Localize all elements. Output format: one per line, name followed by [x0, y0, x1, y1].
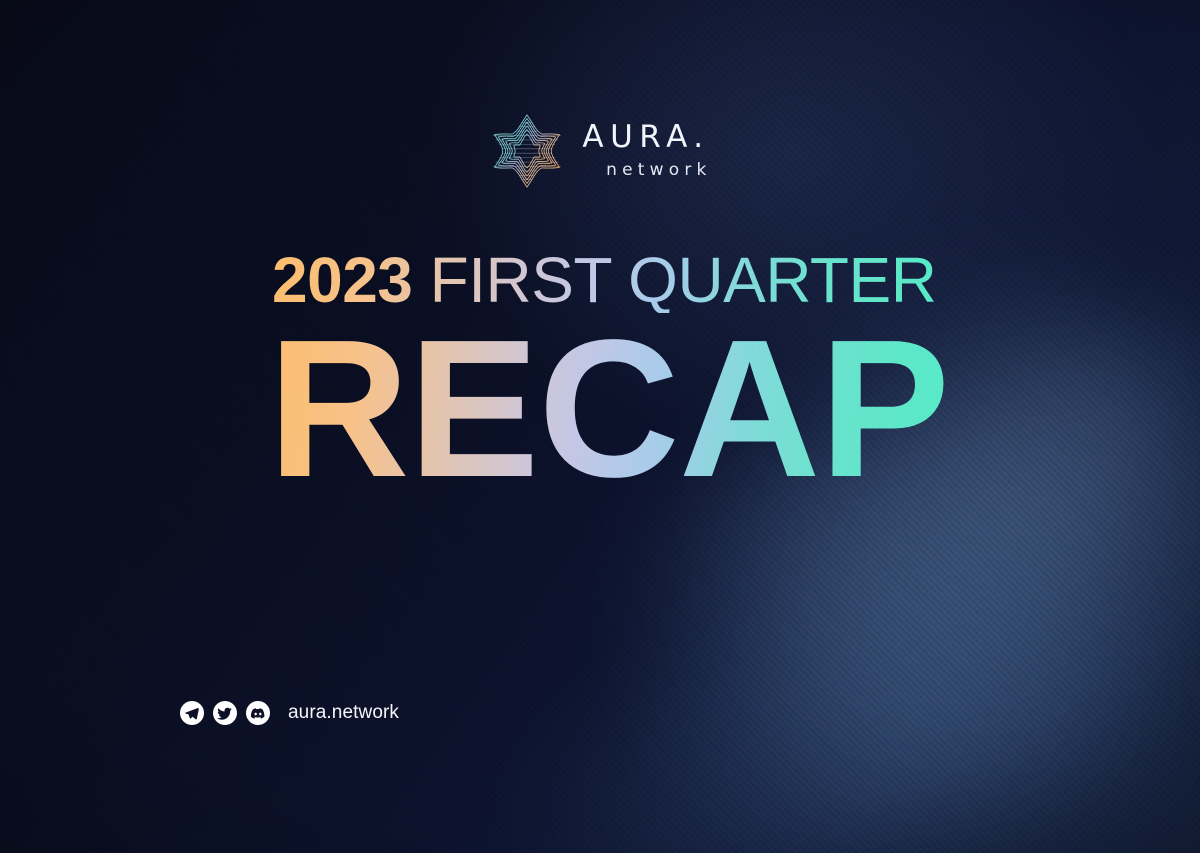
- telegram-icon[interactable]: [180, 701, 204, 725]
- aura-hexagram-logo-icon: [490, 112, 564, 190]
- brand-name: AURA.: [582, 122, 709, 153]
- recap-poster: AURA. network 2023 FIRST QUARTER RECAP a…: [0, 0, 1200, 853]
- background-wave-glow-lower: [481, 569, 1200, 853]
- footer-bar: aura.network: [180, 701, 399, 725]
- footer-url-label[interactable]: aura.network: [288, 702, 399, 724]
- discord-icon[interactable]: [246, 701, 270, 725]
- twitter-icon[interactable]: [213, 701, 237, 725]
- brand-suffix: network: [606, 162, 711, 179]
- brand-wordmark: AURA. network: [582, 122, 709, 181]
- headline-block: 2023 FIRST QUARTER RECAP: [272, 248, 972, 500]
- brand-logo-lockup[interactable]: AURA. network: [0, 112, 1200, 190]
- headline-title: RECAP: [268, 319, 972, 499]
